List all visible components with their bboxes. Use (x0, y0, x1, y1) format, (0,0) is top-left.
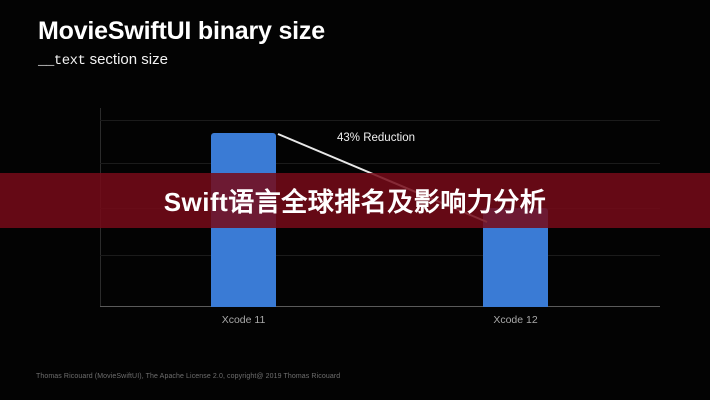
x-tick-label-0: Xcode 11 (211, 314, 276, 326)
overlay-headline: Swift语言全球排名及影响力分析 (164, 182, 547, 219)
subtitle-rest-text: section size (85, 51, 168, 68)
screenshot-root: MovieSwiftUI binary size __text section … (0, 0, 710, 400)
chart-header: MovieSwiftUI binary size __text section … (38, 16, 325, 71)
x-axis-line (100, 306, 660, 307)
x-tick-label-1: Xcode 12 (483, 314, 548, 326)
subtitle-mono-token: __text (38, 53, 85, 69)
gridline-4 (100, 255, 660, 256)
gridline-1 (100, 120, 660, 121)
page-title: MovieSwiftUI binary size (38, 16, 325, 46)
chart-subtitle: __text section size (38, 50, 325, 71)
overlay-banner: Swift语言全球排名及影响力分析 (0, 173, 710, 228)
gridline-2 (100, 163, 660, 164)
attribution-footer: Thomas Ricouard (MovieSwiftUI), The Apac… (36, 373, 340, 380)
reduction-annotation-label: 43% Reduction (337, 132, 415, 144)
